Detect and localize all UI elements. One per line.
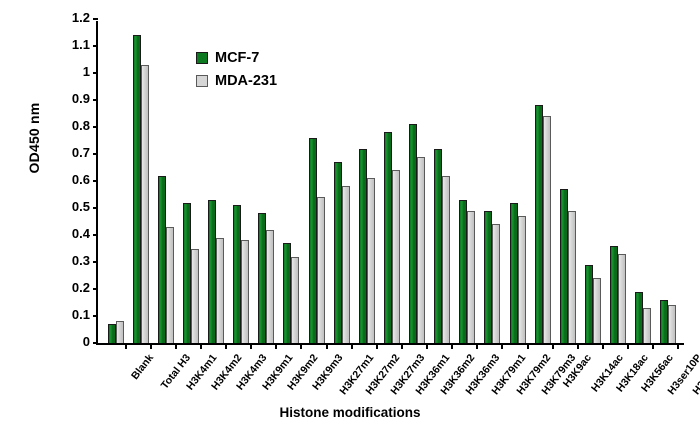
x-axis-tick [225, 343, 227, 349]
bar-mda231 [191, 249, 199, 344]
x-axis-tick [426, 343, 428, 349]
x-axis-tick [250, 343, 252, 349]
x-axis-tick [451, 343, 453, 349]
x-axis-tick [527, 343, 529, 349]
bar-group [631, 21, 656, 343]
bar-mcf7 [409, 124, 417, 343]
y-tick-label: 0.4 [72, 226, 90, 241]
y-tick-label: 0.2 [72, 280, 90, 295]
x-axis-tick [200, 343, 202, 349]
bar-group [656, 21, 681, 343]
bar-mcf7 [660, 300, 668, 343]
legend-swatch-mda231 [196, 75, 208, 87]
x-axis-tick [326, 343, 328, 349]
bar-mda231 [467, 211, 475, 343]
bar-group [103, 21, 128, 343]
bar-mcf7 [585, 265, 593, 343]
bar-mda231 [141, 65, 149, 343]
bar-mcf7 [610, 246, 618, 343]
x-axis-tick [351, 343, 353, 349]
y-tick-label: 0.5 [72, 199, 90, 214]
bar-mda231 [593, 278, 601, 343]
bar-mda231 [342, 186, 350, 343]
bar-mcf7 [359, 149, 367, 343]
x-axis-title: Histone modifications [0, 405, 700, 420]
bar-mda231 [568, 211, 576, 343]
bar-group [329, 21, 354, 343]
x-axis-tick [552, 343, 554, 349]
bar-mda231 [643, 308, 651, 343]
x-axis-tick [627, 343, 629, 349]
legend-label-mcf7: MCF-7 [215, 50, 259, 66]
bar-group [580, 21, 605, 343]
bar-mda231 [442, 176, 450, 343]
bar-mda231 [492, 224, 500, 343]
bar-mda231 [543, 116, 551, 343]
y-tick-mark [93, 18, 98, 20]
bar-group [606, 21, 631, 343]
bar-mcf7 [334, 162, 342, 343]
x-axis-tick [175, 343, 177, 349]
bar-mcf7 [158, 176, 166, 343]
bar-mda231 [266, 230, 274, 343]
x-axis-tick [376, 343, 378, 349]
bar-group [304, 21, 329, 343]
y-tick-label: 0 [83, 334, 90, 349]
x-axis-tick [652, 343, 654, 349]
bar-group [279, 21, 304, 343]
bar-group [530, 21, 555, 343]
y-axis-title: OD450 nm [26, 38, 42, 238]
x-axis-label: Blank [129, 352, 156, 382]
bar-mda231 [317, 197, 325, 343]
plot-area: 00.10.20.30.40.50.60.70.80.911.11.2 [96, 21, 684, 345]
x-axis-tick [677, 343, 679, 349]
x-axis-tick [300, 343, 302, 349]
y-tick-label: 0.3 [72, 253, 90, 268]
bar-mda231 [367, 178, 375, 343]
bar-mda231 [291, 257, 299, 343]
bar-group [153, 21, 178, 343]
bar-mcf7 [309, 138, 317, 343]
bar-mcf7 [233, 205, 241, 343]
legend-label-mda231: MDA-231 [215, 73, 277, 89]
bar-mda231 [241, 240, 249, 343]
bar-mda231 [216, 238, 224, 343]
bar-group [555, 21, 580, 343]
bar-mcf7 [484, 211, 492, 343]
chart-legend: MCF-7 MDA-231 [196, 50, 277, 96]
bar-mda231 [392, 170, 400, 343]
bar-group [354, 21, 379, 343]
legend-item-mcf7: MCF-7 [196, 50, 277, 66]
x-axis-tick [602, 343, 604, 349]
bar-group [379, 21, 404, 343]
legend-item-mda231: MDA-231 [196, 73, 277, 89]
x-axis-tick [125, 343, 127, 349]
bar-mcf7 [510, 203, 518, 343]
bar-mcf7 [384, 132, 392, 343]
y-tick-label: 1 [83, 64, 90, 79]
legend-swatch-mcf7 [196, 52, 208, 64]
x-axis-tick [401, 343, 403, 349]
bar-mda231 [116, 321, 124, 343]
bar-group [480, 21, 505, 343]
y-tick-label: 0.7 [72, 145, 90, 160]
bar-mcf7 [283, 243, 291, 343]
bar-mcf7 [208, 200, 216, 343]
bar-mcf7 [133, 35, 141, 343]
bar-mcf7 [459, 200, 467, 343]
bar-mda231 [166, 227, 174, 343]
y-tick-label: 0.9 [72, 91, 90, 106]
x-axis-tick [501, 343, 503, 349]
x-axis-tick [150, 343, 152, 349]
bar-group [128, 21, 153, 343]
bar-mcf7 [635, 292, 643, 343]
bar-mda231 [668, 305, 676, 343]
x-axis-tick [275, 343, 277, 349]
bar-mcf7 [258, 213, 266, 343]
bar-chart: OD450 nm 00.10.20.30.40.50.60.70.80.911.… [0, 0, 700, 435]
bar-mda231 [417, 157, 425, 343]
bar-mcf7 [434, 149, 442, 343]
y-tick-label: 0.8 [72, 118, 90, 133]
x-axis-tick [476, 343, 478, 349]
y-tick-label: 0.6 [72, 172, 90, 187]
y-tick-label: 1.2 [72, 10, 90, 25]
bar-group [405, 21, 430, 343]
bar-group [505, 21, 530, 343]
bar-group [455, 21, 480, 343]
bar-mcf7 [535, 105, 543, 343]
bar-group [430, 21, 455, 343]
x-axis-tick [577, 343, 579, 349]
bar-mcf7 [108, 324, 116, 343]
bars-container [98, 21, 684, 343]
bar-mcf7 [560, 189, 568, 343]
bar-mcf7 [183, 203, 191, 343]
bar-mda231 [518, 216, 526, 343]
bar-mda231 [618, 254, 626, 343]
y-tick-label: 0.1 [72, 307, 90, 322]
y-tick-label: 1.1 [72, 37, 90, 52]
